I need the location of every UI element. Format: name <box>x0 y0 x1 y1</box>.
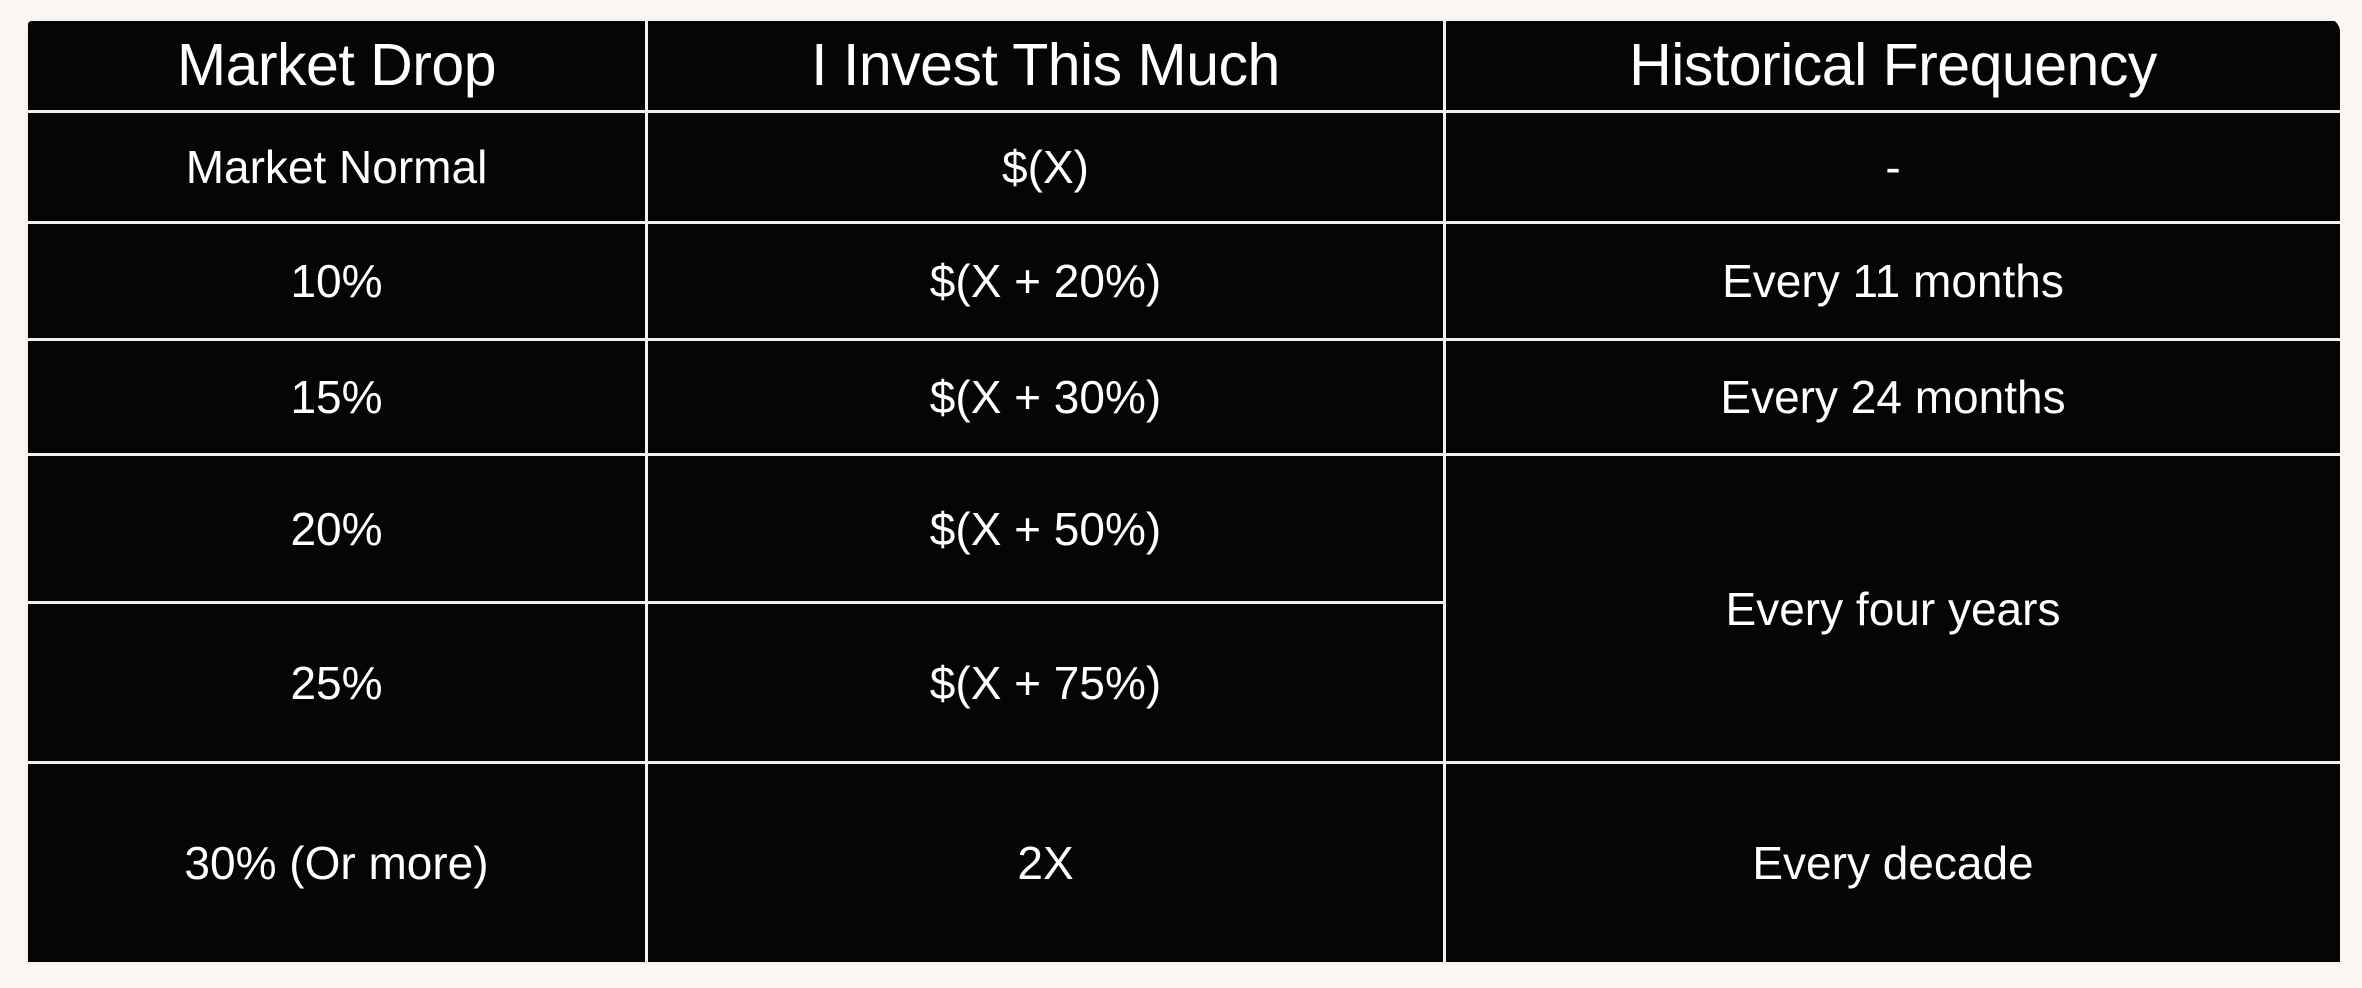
cell-market-drop: 20% <box>28 456 645 601</box>
cell-invest-amount: $(X + 30%) <box>648 341 1443 453</box>
cell-historical-frequency: Every decade <box>1446 764 2340 962</box>
investment-table-container: Market Drop I Invest This Much Historica… <box>25 18 2340 965</box>
investment-strategy-table: Market Drop I Invest This Much Historica… <box>25 18 2340 965</box>
table-row: 30% (Or more) 2X Every decade <box>28 764 2340 962</box>
cell-historical-frequency: - <box>1446 113 2340 221</box>
cell-market-drop: Market Normal <box>28 113 645 221</box>
cell-invest-amount: 2X <box>648 764 1443 962</box>
table-row: Market Normal $(X) - <box>28 113 2340 221</box>
cell-market-drop: 25% <box>28 604 645 762</box>
cell-invest-amount: $(X + 50%) <box>648 456 1443 601</box>
cell-invest-amount: $(X + 20%) <box>648 224 1443 338</box>
page-root: Market Drop I Invest This Much Historica… <box>0 0 2362 988</box>
cell-invest-amount: $(X + 75%) <box>648 604 1443 762</box>
column-header-historical-frequency: Historical Frequency <box>1446 21 2340 110</box>
cell-market-drop: 10% <box>28 224 645 338</box>
table-header: Market Drop I Invest This Much Historica… <box>28 21 2340 110</box>
header-row: Market Drop I Invest This Much Historica… <box>28 21 2340 110</box>
table-row: 20% $(X + 50%) Every four years <box>28 456 2340 601</box>
cell-market-drop: 30% (Or more) <box>28 764 645 962</box>
cell-historical-frequency: Every 24 months <box>1446 341 2340 453</box>
cell-market-drop: 15% <box>28 341 645 453</box>
table-row: 10% $(X + 20%) Every 11 months <box>28 224 2340 338</box>
column-header-invest-amount: I Invest This Much <box>648 21 1443 110</box>
table-body: Market Normal $(X) - 10% $(X + 20%) Ever… <box>28 113 2340 962</box>
table-row: 15% $(X + 30%) Every 24 months <box>28 341 2340 453</box>
cell-historical-frequency-merged: Every four years <box>1446 456 2340 761</box>
cell-historical-frequency: Every 11 months <box>1446 224 2340 338</box>
column-header-market-drop: Market Drop <box>28 21 645 110</box>
cell-invest-amount: $(X) <box>648 113 1443 221</box>
